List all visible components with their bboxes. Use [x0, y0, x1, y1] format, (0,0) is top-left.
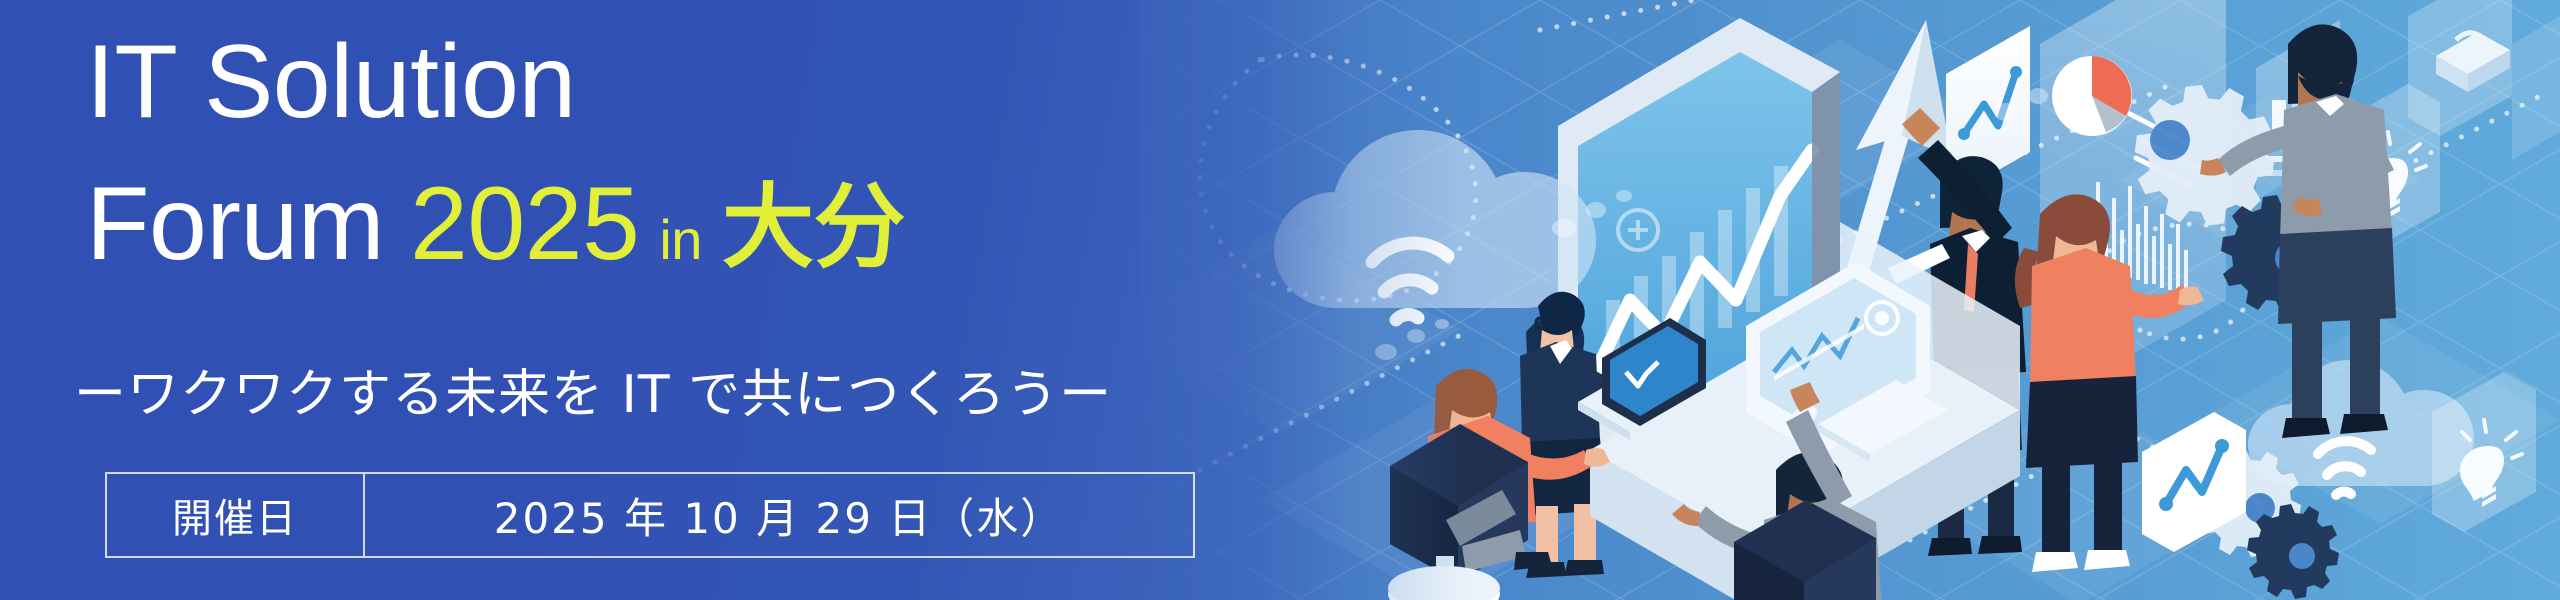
title-place: 大分	[722, 182, 905, 274]
page-title-line-2: Forum 2025 in 大分	[86, 172, 905, 276]
event-date-box: 開催日 2025 年 10 月 29 日（水）	[105, 472, 1195, 558]
event-banner: IT Solution Forum 2025 in 大分 ーワクワクする未来を …	[0, 0, 2560, 600]
page-title-line-1: IT Solution	[86, 30, 576, 134]
date-value: 2025 年 10 月 29 日（水）	[494, 485, 1065, 546]
date-value-cell: 2025 年 10 月 29 日（水）	[365, 474, 1193, 556]
title-preposition: in	[659, 212, 702, 268]
event-tagline: ーワクワクする未来を IT で共につくろうー	[74, 352, 1112, 427]
date-label-cell: 開催日	[107, 474, 365, 556]
title-year: 2025	[410, 172, 639, 276]
illustration-artwork	[1140, 0, 2560, 600]
date-label: 開催日	[172, 486, 298, 544]
title-forum-word: Forum	[86, 172, 384, 276]
banner-text-panel: IT Solution Forum 2025 in 大分 ーワクワクする未来を …	[0, 0, 1260, 600]
